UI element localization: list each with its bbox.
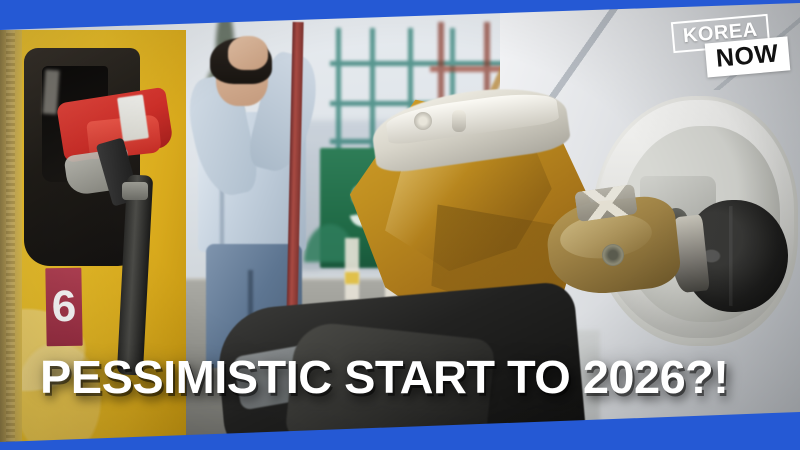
video-frame: S (0, 0, 800, 450)
channel-logo: KOREA NOW (664, 18, 788, 84)
logo-now-text: NOW (705, 36, 790, 77)
headline-text: PESSIMISTIC START TO 2026?! (40, 354, 785, 400)
